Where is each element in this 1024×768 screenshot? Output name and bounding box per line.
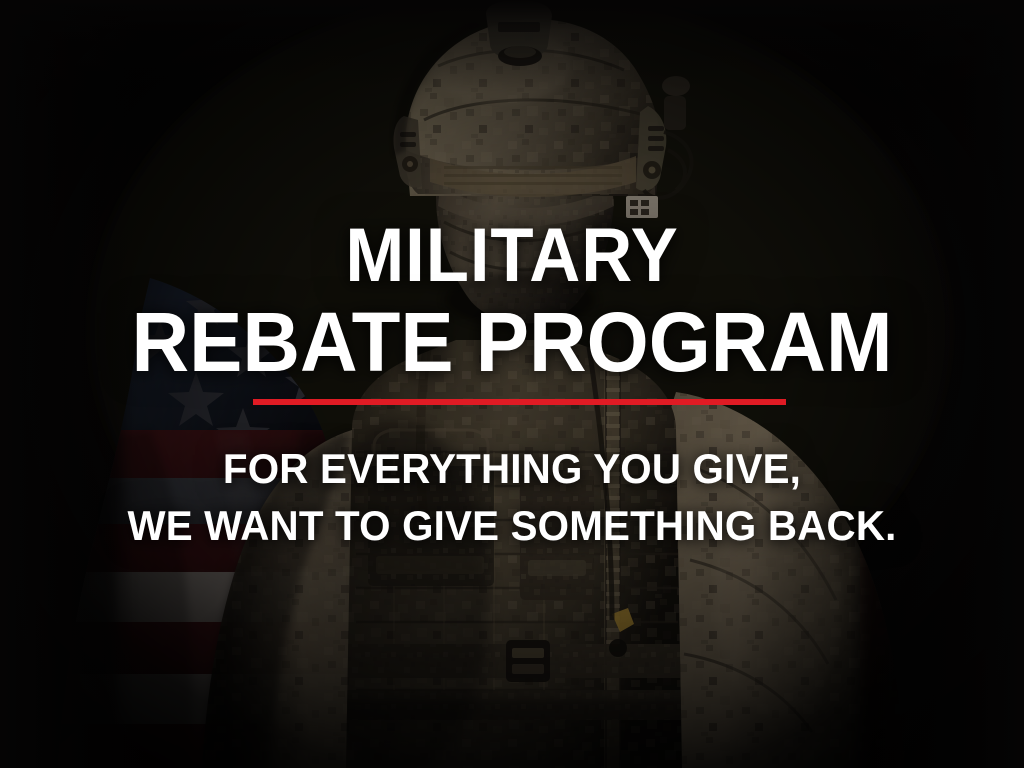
title-line-2: REBATE PROGRAM	[26, 300, 999, 384]
subtitle-line-2: WE WANT TO GIVE SOMETHING BACK.	[20, 505, 1003, 547]
title-line-1: MILITARY	[36, 218, 988, 294]
red-divider-rule	[253, 399, 786, 405]
military-rebate-poster: MILITARY REBATE PROGRAM FOR EVERYTHING Y…	[0, 0, 1024, 768]
subtitle-line-1: FOR EVERYTHING YOU GIVE,	[20, 448, 1003, 490]
